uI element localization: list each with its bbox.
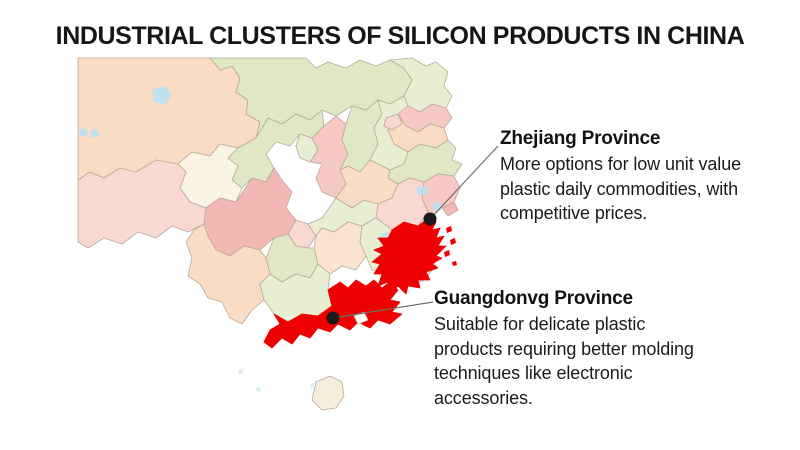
- annotation-zhejiang-body: More options for low unit value plastic …: [500, 152, 760, 226]
- sea-islet-c: [310, 383, 314, 388]
- page-title: INDUSTRIAL CLUSTERS OF SILICON PRODUCTS …: [0, 24, 800, 49]
- infographic-canvas: INDUSTRIAL CLUSTERS OF SILICON PRODUCTS …: [0, 0, 800, 450]
- china-map-svg: [60, 52, 490, 444]
- annotation-guangdong: Guangdonvg Province Suitable for delicat…: [434, 288, 694, 410]
- annotation-guangdong-body: Suitable for delicate plastic products r…: [434, 312, 694, 410]
- province-hunan: [314, 222, 366, 274]
- annotation-guangdong-heading: Guangdonvg Province: [434, 288, 694, 310]
- sea-islet-b: [256, 387, 261, 392]
- province-hainan: [312, 376, 344, 410]
- annotation-zhejiang: Zhejiang Province More options for low u…: [500, 128, 760, 226]
- china-map: [60, 52, 490, 444]
- annotation-zhejiang-heading: Zhejiang Province: [500, 128, 760, 150]
- sea-islet-a: [238, 369, 243, 374]
